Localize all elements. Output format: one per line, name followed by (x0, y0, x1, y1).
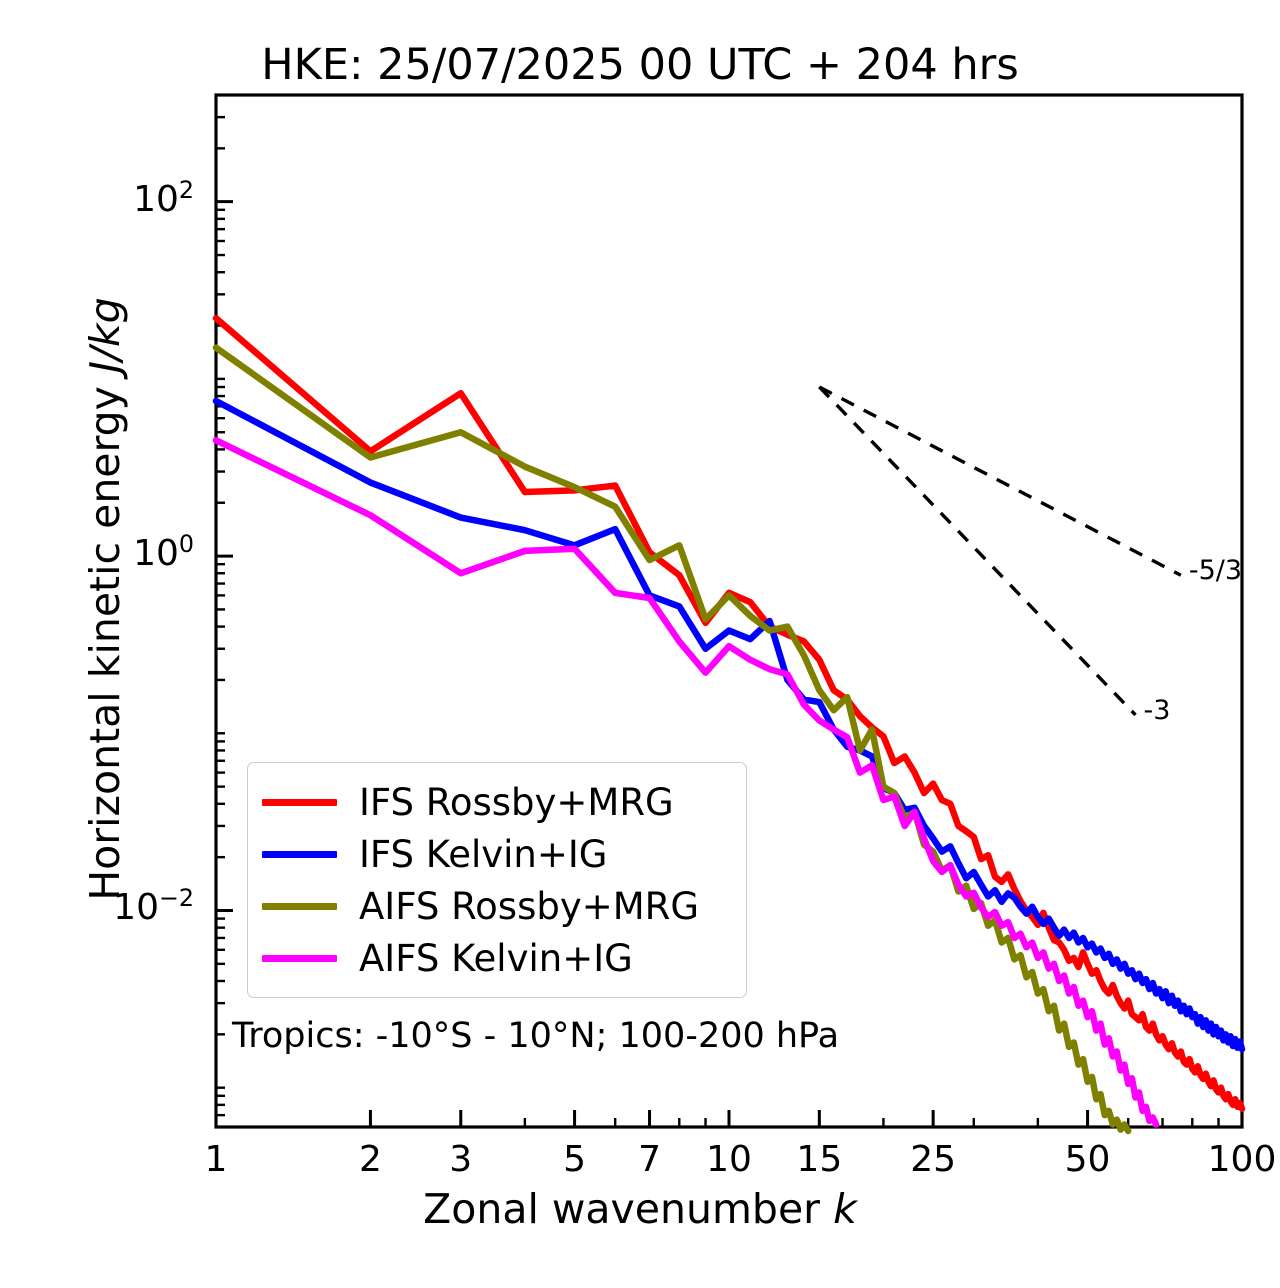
x-tick-label: 1 (156, 1139, 276, 1180)
y-tick-label: 10−2 (74, 884, 194, 928)
slope-reference-line (819, 387, 1135, 715)
legend-color-swatch (262, 903, 337, 910)
x-tick-label: 15 (759, 1139, 879, 1180)
y-tick-label: 102 (74, 176, 194, 220)
x-tick-label: 100 (1182, 1139, 1280, 1180)
legend-label: AIFS Rossby+MRG (359, 888, 699, 925)
x-axis-label: Zonal wavenumber k (0, 1185, 1280, 1233)
legend-item[interactable]: AIFS Rossby+MRG (262, 880, 732, 932)
legend-color-swatch (262, 799, 337, 806)
legend-color-swatch (262, 851, 337, 858)
x-tick-label: 50 (1028, 1139, 1148, 1180)
legend-label: AIFS Kelvin+IG (359, 940, 633, 977)
x-tick-label: 3 (401, 1139, 521, 1180)
legend-item[interactable]: IFS Kelvin+IG (262, 828, 732, 880)
slope-reference-label: -5/3 (1189, 555, 1242, 586)
legend-color-swatch (262, 955, 337, 962)
y-axis-label: Horizontal kinetic energy J/kg (81, 219, 129, 979)
slope-reference-line (819, 387, 1181, 575)
legend-item[interactable]: IFS Rossby+MRG (262, 776, 732, 828)
figure-root: HKE: 25/07/2025 00 UTC + 204 hrs Horizon… (0, 0, 1280, 1288)
x-tick-label: 25 (873, 1139, 993, 1180)
slope-reference-label: -3 (1143, 695, 1170, 726)
y-tick-label: 100 (74, 530, 194, 574)
legend: IFS Rossby+MRGIFS Kelvin+IGAIFS Rossby+M… (247, 762, 747, 998)
series-line (216, 348, 1128, 1131)
legend-label: IFS Kelvin+IG (359, 836, 607, 873)
legend-label: IFS Rossby+MRG (359, 784, 674, 821)
legend-item[interactable]: AIFS Kelvin+IG (262, 932, 732, 984)
region-annotation: Tropics: -10°S - 10°N; 100-200 hPa (232, 1016, 839, 1056)
